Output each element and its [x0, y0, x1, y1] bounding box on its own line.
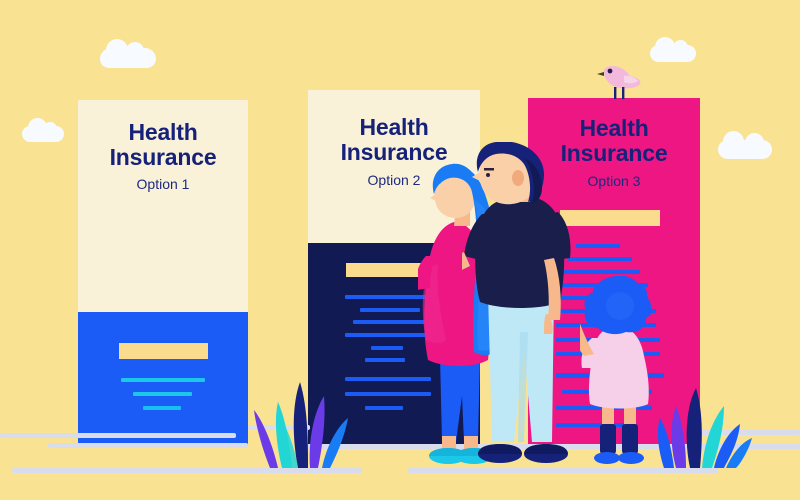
panel-option-1[interactable]: Health Insurance Option 1	[78, 100, 248, 445]
panel-1-rule	[133, 392, 192, 396]
panel-2-rule	[365, 358, 405, 362]
panel-2-rule	[365, 406, 403, 410]
panel-1-rule	[143, 406, 181, 410]
panel-2-rule	[371, 346, 403, 350]
panel-1-title-line1: Health	[78, 120, 248, 145]
panel-2-title-line1: Health	[308, 115, 480, 140]
cloud-mid-left	[22, 126, 64, 142]
panel-1-title-line2: Insurance	[78, 145, 248, 170]
floor-line	[12, 468, 362, 473]
bird-icon	[596, 58, 646, 100]
panel-1-tan-bar	[119, 343, 208, 359]
floor-line	[0, 433, 236, 438]
illustration-canvas: Health Insurance Option 1 Health Insuran…	[0, 0, 800, 500]
panel-2-rule	[353, 320, 425, 324]
panel-3-rule	[576, 244, 620, 248]
panel-3-title-line1: Health	[528, 116, 700, 141]
plant-right	[652, 380, 772, 468]
floor-line	[48, 443, 248, 448]
panel-1-rule	[121, 378, 205, 382]
panel-2-rule	[345, 295, 427, 299]
cloud-top-right	[650, 45, 696, 62]
panel-2-rule	[345, 333, 427, 337]
figure-child	[580, 276, 668, 472]
plant-left	[252, 368, 360, 468]
panel-1-subtitle: Option 1	[78, 176, 248, 192]
cloud-top-left	[100, 48, 156, 68]
panel-2-rule	[360, 308, 420, 312]
cloud-right	[718, 140, 772, 159]
figure-man	[462, 142, 582, 472]
